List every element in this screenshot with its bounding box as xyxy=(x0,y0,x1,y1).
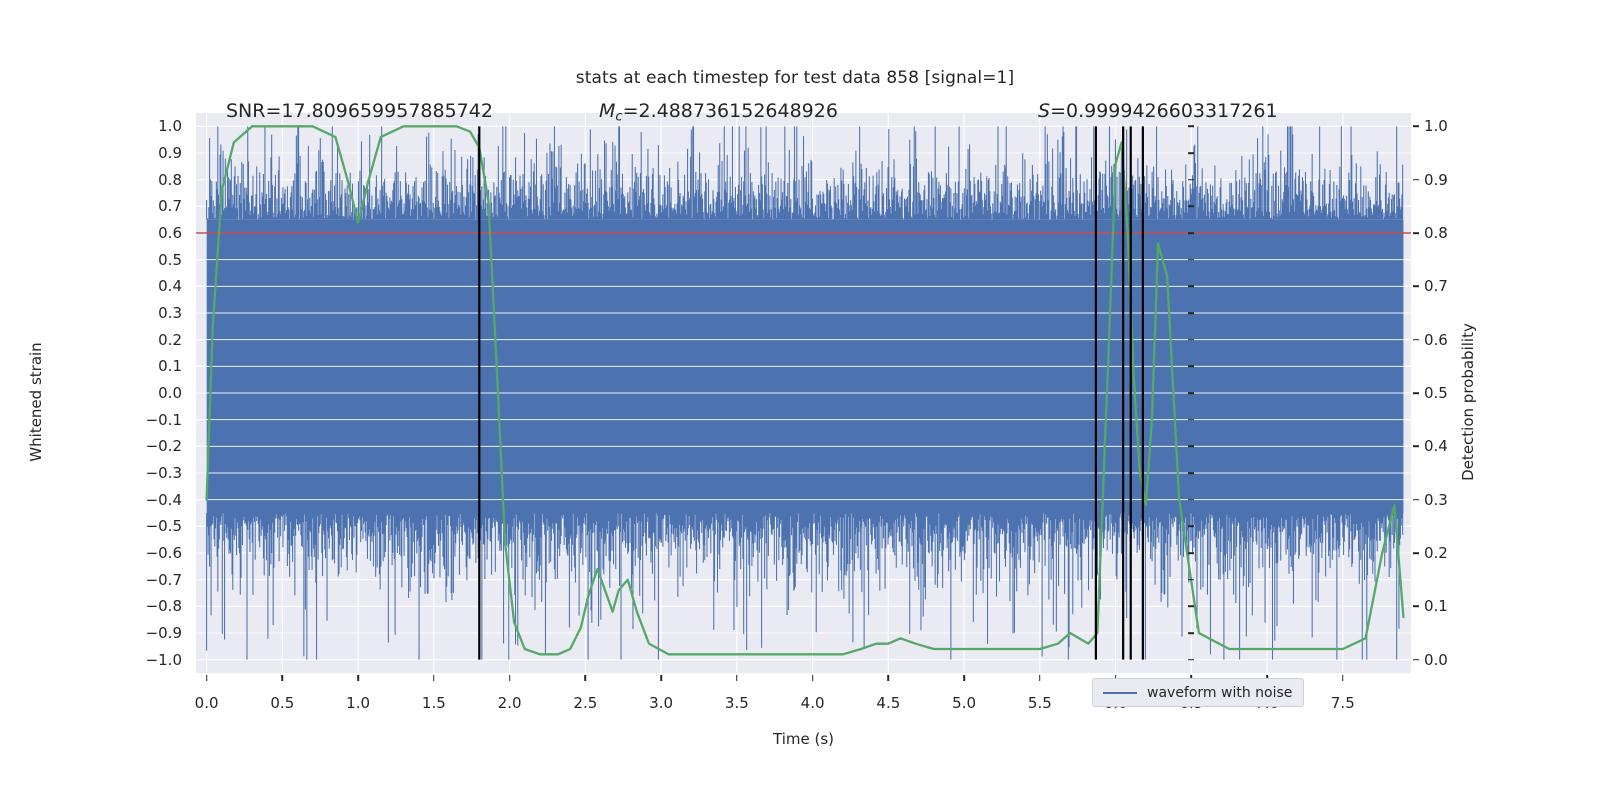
tick-mark xyxy=(888,675,890,681)
x-tick: 4.0 xyxy=(801,694,825,712)
chart-title: stats at each timestep for test data 858… xyxy=(0,68,1595,88)
x-tick: 5.0 xyxy=(952,694,976,712)
tick-mark xyxy=(1413,552,1419,554)
tick-mark xyxy=(1188,499,1194,501)
tick-mark xyxy=(1413,339,1419,341)
annotation-s-value: 0.9999426603317261 xyxy=(1066,100,1278,122)
tick-mark xyxy=(1188,232,1194,234)
y-tick-left: 0.8 xyxy=(158,171,182,189)
x-tick: 3.5 xyxy=(725,694,749,712)
tick-mark xyxy=(963,675,965,681)
tick-mark xyxy=(1413,659,1419,661)
tick-mark xyxy=(1188,366,1194,368)
tick-mark xyxy=(1188,312,1194,314)
y-tick-left: −0.4 xyxy=(146,491,182,509)
y-tick-left: −0.8 xyxy=(146,597,182,615)
y-tick-right: 0.1 xyxy=(1424,597,1448,615)
tick-mark xyxy=(1188,579,1194,581)
tick-mark xyxy=(1413,392,1419,394)
x-tick: 3.0 xyxy=(649,694,673,712)
y-tick-right: 0.4 xyxy=(1424,437,1448,455)
x-tick: 0.0 xyxy=(195,694,219,712)
tick-mark xyxy=(660,675,662,681)
x-axis-label: Time (s) xyxy=(196,730,1411,748)
tick-mark xyxy=(1413,499,1419,501)
x-tick: 1.5 xyxy=(422,694,446,712)
tick-mark xyxy=(1342,675,1344,681)
plot-area[interactable] xyxy=(196,113,1411,673)
x-tick: 4.5 xyxy=(876,694,900,712)
tick-mark xyxy=(1413,179,1419,181)
x-tick: 0.5 xyxy=(270,694,294,712)
tick-mark xyxy=(1188,419,1194,421)
x-tick: 1.0 xyxy=(346,694,370,712)
y-tick-left: 0.0 xyxy=(158,384,182,402)
tick-mark xyxy=(1188,552,1194,554)
tick-mark xyxy=(1188,526,1194,528)
tick-mark xyxy=(357,675,359,681)
y-tick-right: 0.3 xyxy=(1424,491,1448,509)
tick-mark xyxy=(1188,339,1194,341)
y-tick-left: −0.5 xyxy=(146,517,182,535)
tick-mark xyxy=(1413,286,1419,288)
plot-clip xyxy=(196,113,1411,673)
y-tick-right: 0.5 xyxy=(1424,384,1448,402)
tick-mark xyxy=(1413,446,1419,448)
y-tick-left: 0.6 xyxy=(158,224,182,242)
annotation-mc-subscript: c xyxy=(615,109,622,124)
tick-mark xyxy=(1413,126,1419,128)
y-tick-left: 0.5 xyxy=(158,251,182,269)
overlay-series xyxy=(196,113,1411,673)
y-tick-left: −1.0 xyxy=(146,651,182,669)
legend[interactable]: waveform with noise xyxy=(1092,678,1304,707)
x-tick: 2.0 xyxy=(498,694,522,712)
y-tick-left: −0.9 xyxy=(146,624,182,642)
tick-mark xyxy=(736,675,738,681)
tick-mark xyxy=(585,675,587,681)
y-tick-right: 0.8 xyxy=(1424,224,1448,242)
y-tick-left: 0.3 xyxy=(158,304,182,322)
tick-mark xyxy=(1188,152,1194,154)
tick-mark xyxy=(1188,632,1194,634)
y-tick-left: −0.6 xyxy=(146,544,182,562)
tick-mark xyxy=(1188,206,1194,208)
annotation-mc-value: 2.488736152648926 xyxy=(638,100,837,122)
tick-mark xyxy=(433,675,435,681)
annotation-snr-text: SNR=17.809659957885742 xyxy=(226,100,493,122)
tick-mark xyxy=(1188,392,1194,394)
y-tick-left: 0.7 xyxy=(158,197,182,215)
tick-mark xyxy=(1188,179,1194,181)
y-tick-right: 0.6 xyxy=(1424,331,1448,349)
x-tick: 5.5 xyxy=(1028,694,1052,712)
tick-mark xyxy=(1188,659,1194,661)
annotation-s-equals: = xyxy=(1050,100,1066,122)
y-tick-left: −0.7 xyxy=(146,571,182,589)
legend-item-label: waveform with noise xyxy=(1147,685,1292,701)
annotation-mc-equals: = xyxy=(623,100,639,122)
x-tick: 2.5 xyxy=(573,694,597,712)
y-axis-left-ticklabels: 1.00.90.80.70.60.50.40.30.20.10.0−0.1−0.… xyxy=(120,113,182,673)
tick-mark xyxy=(1188,286,1194,288)
tick-mark xyxy=(509,675,511,681)
y-tick-right: 0.2 xyxy=(1424,544,1448,562)
y-tick-left: −0.3 xyxy=(146,464,182,482)
y-tick-left: −0.1 xyxy=(146,411,182,429)
tick-mark xyxy=(1188,259,1194,261)
tick-mark xyxy=(282,675,284,681)
y-axis-left-label: Whitened strain xyxy=(27,202,45,602)
y-tick-left: −0.2 xyxy=(146,437,182,455)
y-tick-left: 0.4 xyxy=(158,277,182,295)
y-tick-right: 0.0 xyxy=(1424,651,1448,669)
tick-mark xyxy=(1188,472,1194,474)
tick-mark xyxy=(1413,606,1419,608)
tick-mark xyxy=(812,675,814,681)
figure-canvas: stats at each timestep for test data 858… xyxy=(0,0,1600,800)
y-tick-left: 1.0 xyxy=(158,117,182,135)
annotation-s-symbol: S xyxy=(1038,100,1050,122)
y-axis-right-label: Detection probability xyxy=(1459,202,1477,602)
tick-mark xyxy=(206,675,208,681)
y-tick-right: 1.0 xyxy=(1424,117,1448,135)
tick-mark xyxy=(1413,232,1419,234)
legend-line-swatch xyxy=(1102,687,1138,699)
annotation-mc: Mc=2.488736152648926 xyxy=(599,100,838,124)
y-tick-left: 0.1 xyxy=(158,357,182,375)
x-tick: 7.5 xyxy=(1331,694,1355,712)
tick-mark xyxy=(1039,675,1041,681)
y-tick-left: 0.9 xyxy=(158,144,182,162)
tick-mark xyxy=(1188,446,1194,448)
tick-mark xyxy=(1188,126,1194,128)
y-tick-left: 0.2 xyxy=(158,331,182,349)
annotation-s: S=0.9999426603317261 xyxy=(1038,100,1278,122)
tick-mark xyxy=(1188,606,1194,608)
annotation-mc-symbol: M xyxy=(599,100,615,122)
y-tick-right: 0.7 xyxy=(1424,277,1448,295)
y-tick-right: 0.9 xyxy=(1424,171,1448,189)
annotation-snr: SNR=17.809659957885742 xyxy=(226,100,493,122)
